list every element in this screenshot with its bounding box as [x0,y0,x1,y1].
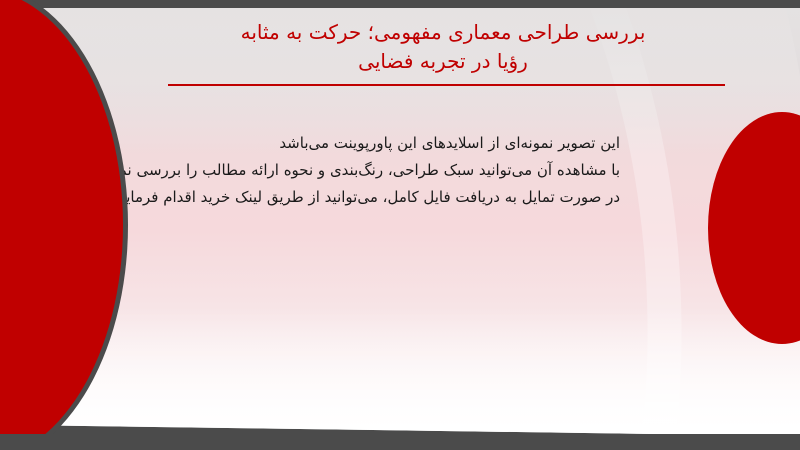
title-underline-rule [168,84,725,86]
presentation-slide: بررسی طراحی معماری مفهومی؛ حرکت به مثابه… [0,0,800,450]
slide-body-line-2: با مشاهده آن می‌توانید سبک طراحی، رنگ‌بن… [98,157,620,184]
slide-title-line-2: رؤیا در تجربه فضایی [153,47,733,76]
slide-title-line-1: بررسی طراحی معماری مفهومی؛ حرکت به مثابه [153,18,733,47]
slide-title: بررسی طراحی معماری مفهومی؛ حرکت به مثابه… [153,18,733,76]
slide-body-line-1: این تصویر نمونه‌ای از اسلایدهای این پاور… [98,130,620,157]
slide-body-line-3: در صورت تمایل به دریافت فایل کامل، می‌تو… [98,184,620,211]
slide-body-text: این تصویر نمونه‌ای از اسلایدهای این پاور… [98,130,620,211]
slide-content-panel: بررسی طراحی معماری مفهومی؛ حرکت به مثابه… [33,8,800,436]
slide-bottom-band [0,434,800,450]
